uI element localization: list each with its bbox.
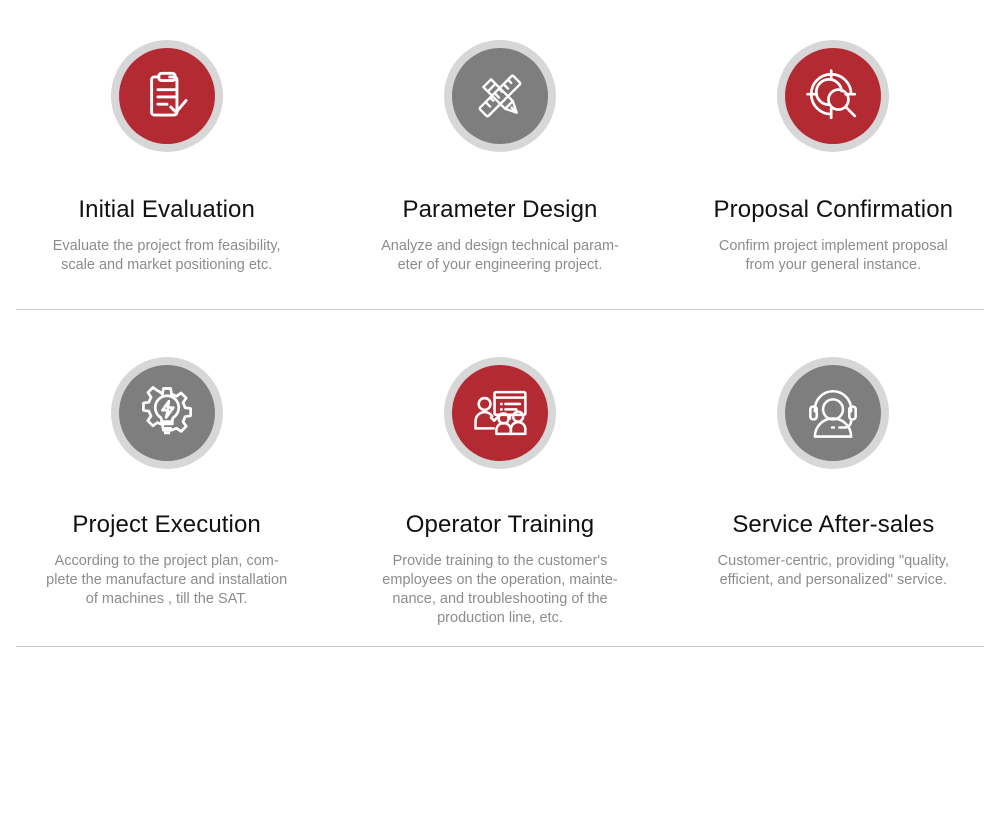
process-steps-page: Initial Evaluation Evaluate the project … [0, 0, 1000, 820]
icon-disc [452, 48, 548, 144]
process-card-proposal-confirmation[interactable]: Proposal Confirmation Confirm project im… [667, 40, 1000, 275]
process-card-service-after-sales[interactable]: Service After-sales Customer-centric, pr… [667, 357, 1000, 628]
icon-disc [785, 48, 881, 144]
icon-disc [452, 365, 548, 461]
card-description: According to the project plan, com- plet… [46, 552, 287, 609]
card-description: Evaluate the project from feasibility, s… [53, 237, 281, 275]
icon-ring [777, 357, 889, 469]
process-row-1: Initial Evaluation Evaluate the project … [0, 0, 1000, 275]
training-presentation-icon [471, 384, 529, 442]
process-row-2: Project Execution According to the proje… [0, 310, 1000, 628]
icon-ring [444, 357, 556, 469]
process-card-initial-evaluation[interactable]: Initial Evaluation Evaluate the project … [0, 40, 333, 275]
icon-disc [785, 365, 881, 461]
card-title: Proposal Confirmation [714, 196, 954, 224]
card-title: Project Execution [72, 511, 260, 539]
process-card-parameter-design[interactable]: Parameter Design Analyze and design tech… [333, 40, 666, 275]
icon-disc [119, 48, 215, 144]
card-description: Confirm project implement proposal from … [719, 237, 948, 275]
icon-ring [111, 357, 223, 469]
process-card-operator-training[interactable]: Operator Training Provide training to th… [333, 357, 666, 628]
gear-bolt-icon [138, 384, 196, 442]
process-card-project-execution[interactable]: Project Execution According to the proje… [0, 357, 333, 628]
icon-ring [444, 40, 556, 152]
card-title: Service After-sales [732, 511, 934, 539]
headset-support-icon [804, 384, 862, 442]
icon-ring [777, 40, 889, 152]
ruler-pencil-icon [471, 67, 529, 125]
clipboard-check-icon [138, 67, 196, 125]
card-title: Initial Evaluation [78, 196, 255, 224]
card-description: Analyze and design technical param- eter… [381, 237, 619, 275]
icon-ring [111, 40, 223, 152]
section-divider-2 [16, 646, 984, 647]
card-description: Customer-centric, providing "quality, ef… [718, 552, 949, 590]
card-title: Parameter Design [402, 196, 597, 224]
card-description: Provide training to the customer's emplo… [382, 552, 617, 628]
target-magnifier-icon [804, 67, 862, 125]
icon-disc [119, 365, 215, 461]
card-title: Operator Training [406, 511, 594, 539]
